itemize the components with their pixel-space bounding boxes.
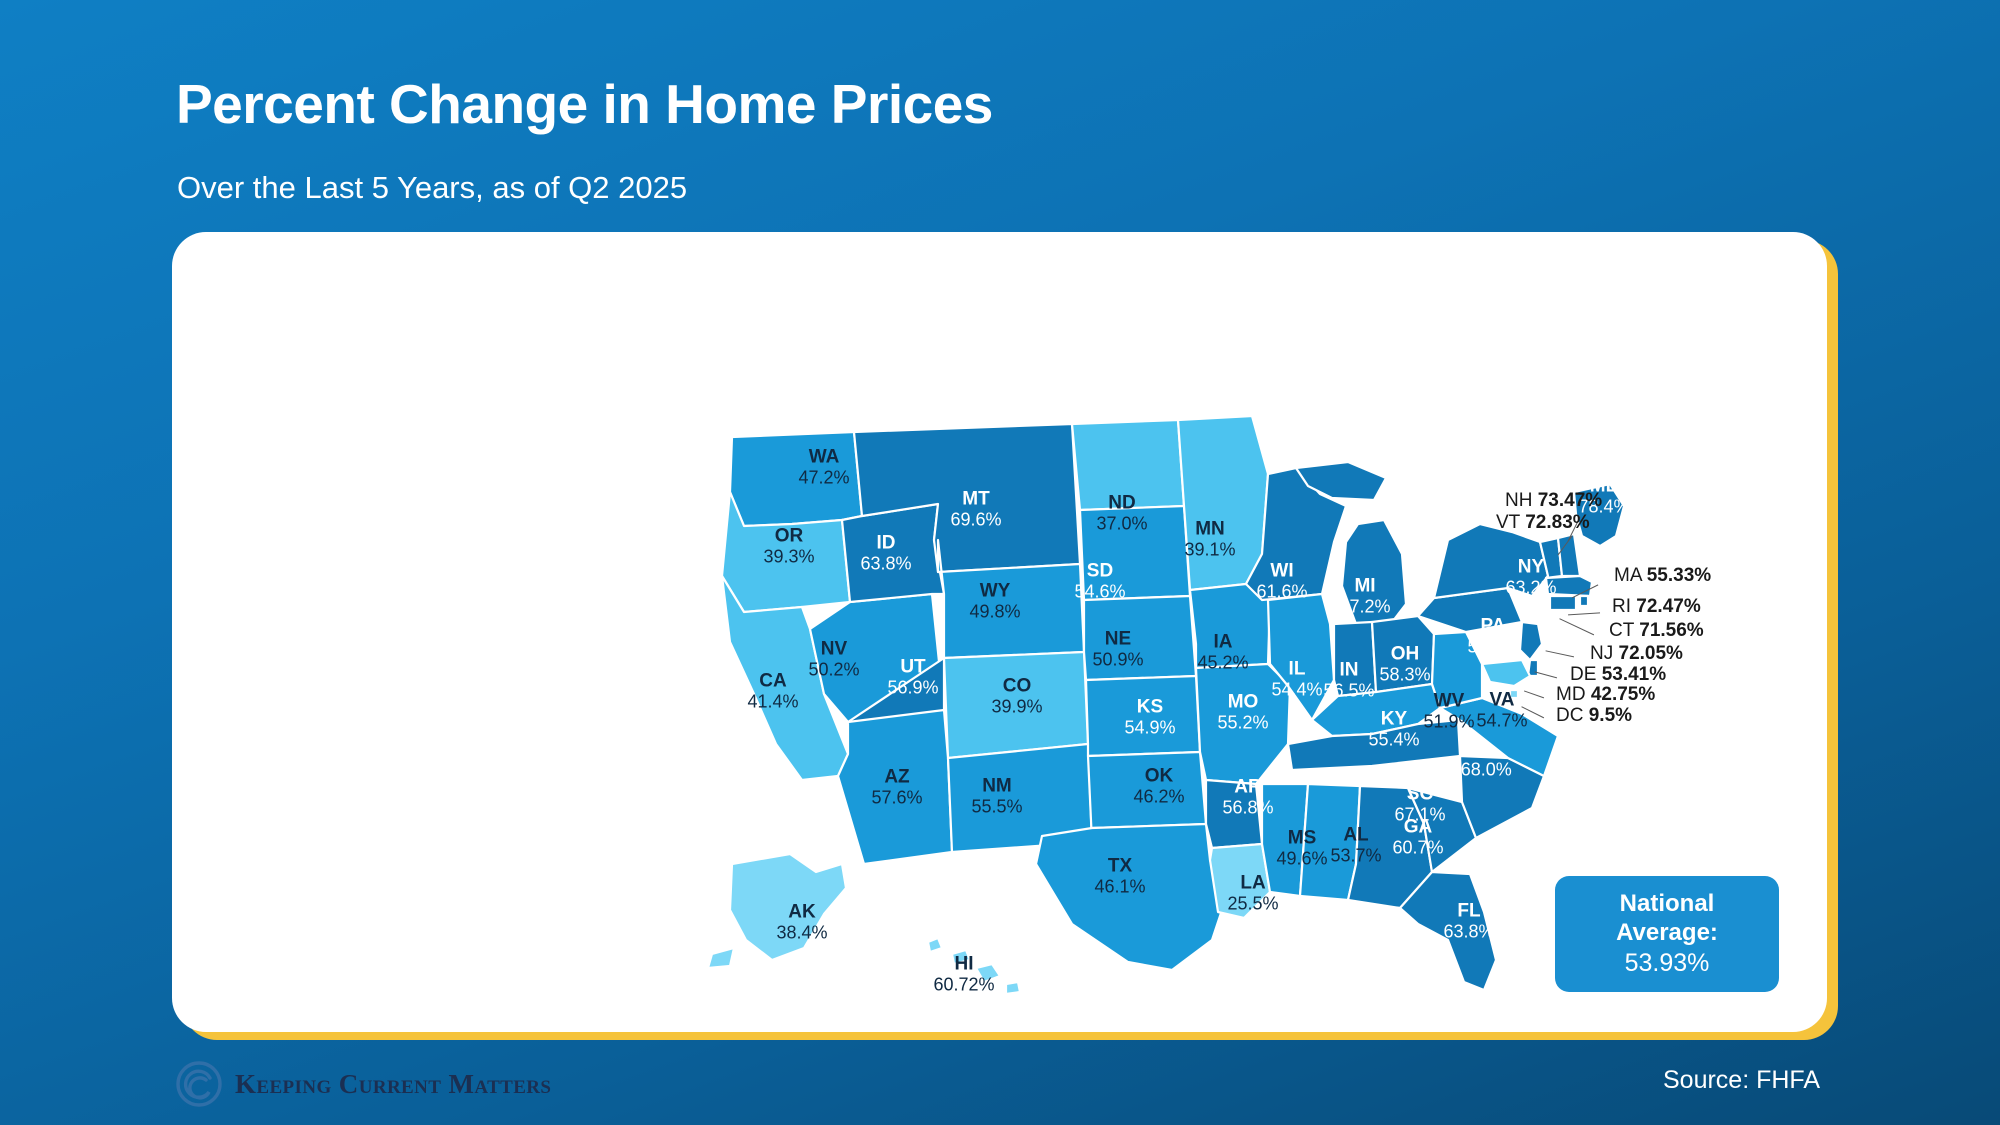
national-average-label-line2: Average: [1616,919,1718,947]
page-subtitle: Over the Last 5 Years, as of Q2 2025 [177,170,687,206]
national-average-value: 53.93% [1625,949,1710,978]
footer: Keeping Current Matters Source: FHFA [0,1039,2000,1125]
national-average-badge: National Average: 53.93% [1555,876,1779,992]
map-card: .s { stroke:#ffffff; stroke-width:2.2; s… [172,232,1827,1032]
page-title: Percent Change in Home Prices [176,72,993,136]
source-attribution: Source: FHFA [1663,1066,1820,1095]
spiral-logo-icon [176,1061,222,1107]
national-average-label-line1: National [1620,890,1715,918]
us-choropleth-map: .s { stroke:#ffffff; stroke-width:2.2; s… [372,232,1662,1014]
map-container[interactable]: .s { stroke:#ffffff; stroke-width:2.2; s… [172,232,1827,1032]
brand-name: Keeping Current Matters [235,1069,551,1100]
brand-logo: Keeping Current Matters [176,1061,551,1107]
